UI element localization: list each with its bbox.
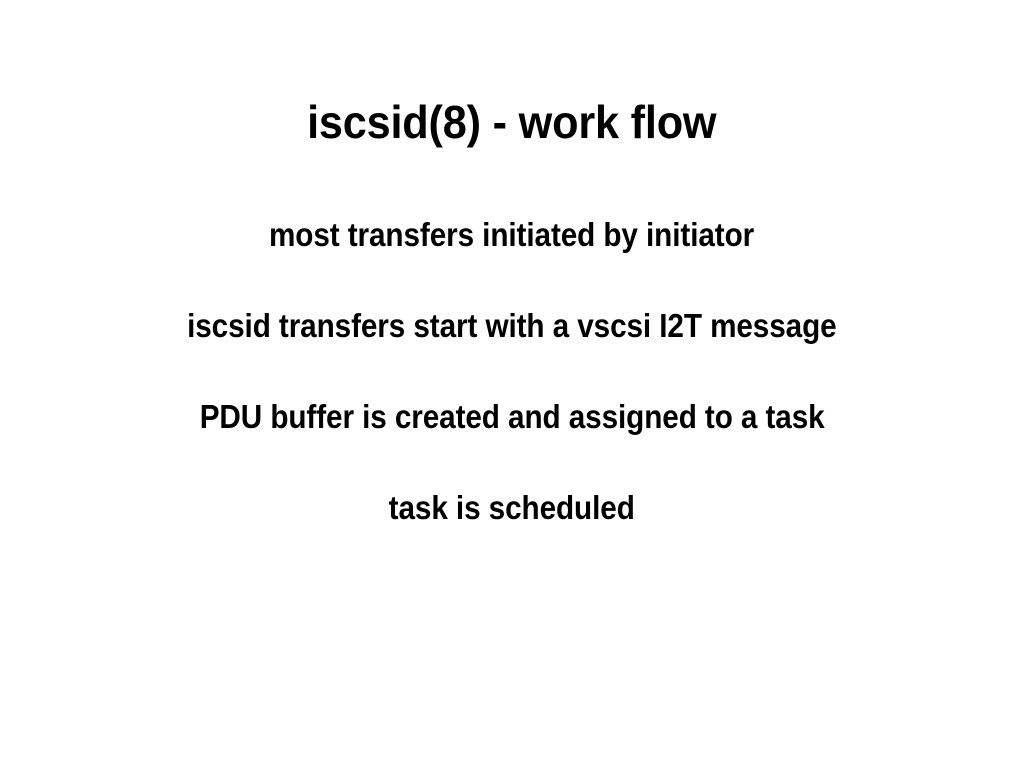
body-line-2-text: iscsid transfers start with a vscsi I2T … bbox=[187, 305, 836, 346]
body-line-1: most transfers initiated by initiator bbox=[0, 214, 1024, 255]
body-line-1-text: most transfers initiated by initiator bbox=[269, 214, 754, 255]
page-title: iscsid(8) - work flow bbox=[0, 96, 1024, 148]
body-line-3: PDU buffer is created and assigned to a … bbox=[0, 396, 1024, 437]
body-line-4-text: task is scheduled bbox=[389, 487, 635, 528]
page-title-text: iscsid(8) - work flow bbox=[307, 96, 716, 148]
body-line-2: iscsid transfers start with a vscsi I2T … bbox=[0, 305, 1024, 346]
body-line-4: task is scheduled bbox=[0, 487, 1024, 528]
presentation-slide: iscsid(8) - work flow most transfers ini… bbox=[0, 0, 1024, 768]
body-line-3-text: PDU buffer is created and assigned to a … bbox=[200, 396, 825, 437]
slide-body: most transfers initiated by initiator is… bbox=[0, 214, 1024, 528]
